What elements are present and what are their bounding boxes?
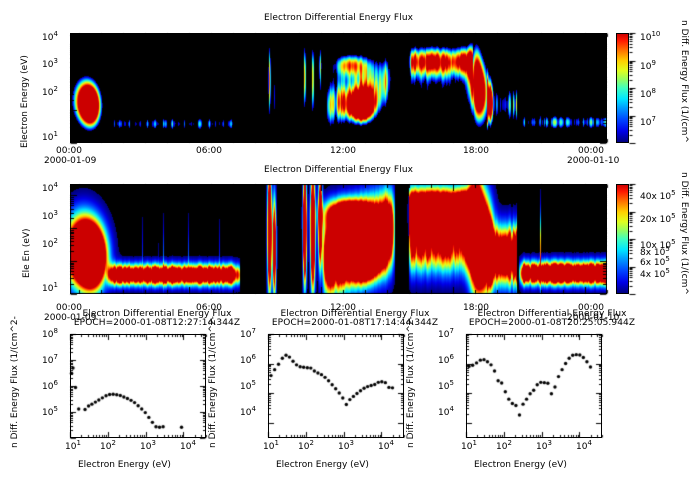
top-cbtick-10e8: 108: [640, 90, 656, 100]
mid-ytick-10e1: 101: [42, 284, 58, 294]
top-xtick-1200: 12:00: [330, 146, 356, 156]
spectrum-2-plot-area: [268, 334, 404, 438]
sp3-ytick-10e7: 107: [438, 330, 454, 340]
sp2-xtick-10e4: 104: [378, 442, 394, 452]
sp1-xtick-10e4: 104: [180, 442, 196, 452]
top-cbtick-10e10: 1010: [640, 33, 660, 43]
mid-ytick-10e2: 102: [42, 240, 58, 250]
spectrum-3-plot-area: [466, 334, 602, 438]
top-spectrogram-title: Electron Differential Energy Flux: [70, 13, 607, 23]
sp1-xtick-10e2: 102: [100, 442, 116, 452]
top-ytick-10e4: 104: [42, 33, 58, 43]
mid-cbtick-4: 4x 105: [640, 270, 670, 280]
mid-cbtick-40: 40x 105: [640, 192, 676, 202]
spectrum-2-xlabel: Electron Energy (eV): [276, 460, 369, 470]
middle-colorbar: [616, 184, 629, 294]
spectrum-1-epoch: EPOCH=2000-01-08T12:27:14.344Z: [62, 318, 252, 328]
sp3-xtick-10e4: 104: [576, 442, 592, 452]
top-xtick-0000a: 00:00: [56, 146, 82, 156]
top-colorbar: [616, 33, 629, 143]
middle-spectrogram-title: Electron Differential Energy Flux: [70, 165, 607, 175]
spectrum-1-ylabel: n Diff. Energy Flux (1/(cm^2-: [10, 316, 20, 448]
middle-colorbar-label: n Diff. Energy Flux (1/(cm^: [679, 172, 689, 295]
sp2-ytick-10e7: 107: [240, 330, 256, 340]
sp2-ytick-10e5: 105: [240, 382, 256, 392]
sp3-xtick-10e3: 103: [536, 442, 552, 452]
sp1-ytick-10e7: 107: [42, 356, 58, 366]
top-cbtick-10e7: 107: [640, 118, 656, 128]
sp2-ytick-10e6: 106: [240, 356, 256, 366]
top-spectrogram-ylabel: Electron Energy (eV): [20, 55, 30, 148]
mid-cbtick-20: 20x 105: [640, 215, 676, 225]
top-ytick-10e2: 102: [42, 88, 58, 98]
spectrum-2-epoch: EPOCH=2000-01-08T17:14:44.344Z: [255, 318, 455, 328]
top-ytick-10e1: 101: [42, 133, 58, 143]
spectrum-3-epoch: EPOCH=2000-01-08T20:25:05.944Z: [452, 318, 652, 328]
middle-spectrogram-ylabel: Ele En (eV): [22, 228, 32, 278]
sp2-xtick-10e1: 101: [263, 442, 279, 452]
mid-ytick-10e3: 103: [42, 212, 58, 222]
mid-ytick-10e4: 104: [42, 184, 58, 194]
top-ytick-10e3: 103: [42, 60, 58, 70]
sp2-ytick-10e4: 104: [240, 408, 256, 418]
sp3-ytick-10e6: 106: [438, 356, 454, 366]
sp3-ytick-10e5: 105: [438, 382, 454, 392]
sp3-xtick-10e1: 101: [461, 442, 477, 452]
sp3-ytick-10e4: 104: [438, 408, 454, 418]
top-colorbar-label: n Diff. Energy Flux (1/(cm^: [679, 20, 689, 143]
sp1-xtick-10e3: 103: [140, 442, 156, 452]
top-xtick-1800: 18:00: [463, 146, 489, 156]
top-spectrogram-plot-area: [70, 33, 607, 143]
middle-spectrogram-plot-area: [70, 184, 607, 294]
spectrum-1-xlabel: Electron Energy (eV): [78, 460, 171, 470]
sp1-ytick-10e6: 106: [42, 382, 58, 392]
spectrum-3-xlabel: Electron Energy (eV): [474, 460, 567, 470]
spectrum-1-plot-area: [70, 334, 206, 438]
sp3-xtick-10e2: 102: [496, 442, 512, 452]
top-cbtick-10e9: 109: [640, 62, 656, 72]
spectrum-3-ylabel: n Diff. Energy Flux (1/(cm^2-: [406, 316, 416, 448]
sp1-ytick-10e5: 105: [42, 408, 58, 418]
top-xtick-0600: 06:00: [196, 146, 222, 156]
spectrum-2-ylabel: n Diff. Energy Flux (1/(cm^2-: [208, 316, 218, 448]
top-xtick-0000b: 00:00: [578, 146, 604, 156]
sp1-ytick-10e8: 108: [42, 330, 58, 340]
sp1-xtick-10e1: 101: [65, 442, 81, 452]
sp2-xtick-10e3: 103: [338, 442, 354, 452]
sp2-xtick-10e2: 102: [298, 442, 314, 452]
